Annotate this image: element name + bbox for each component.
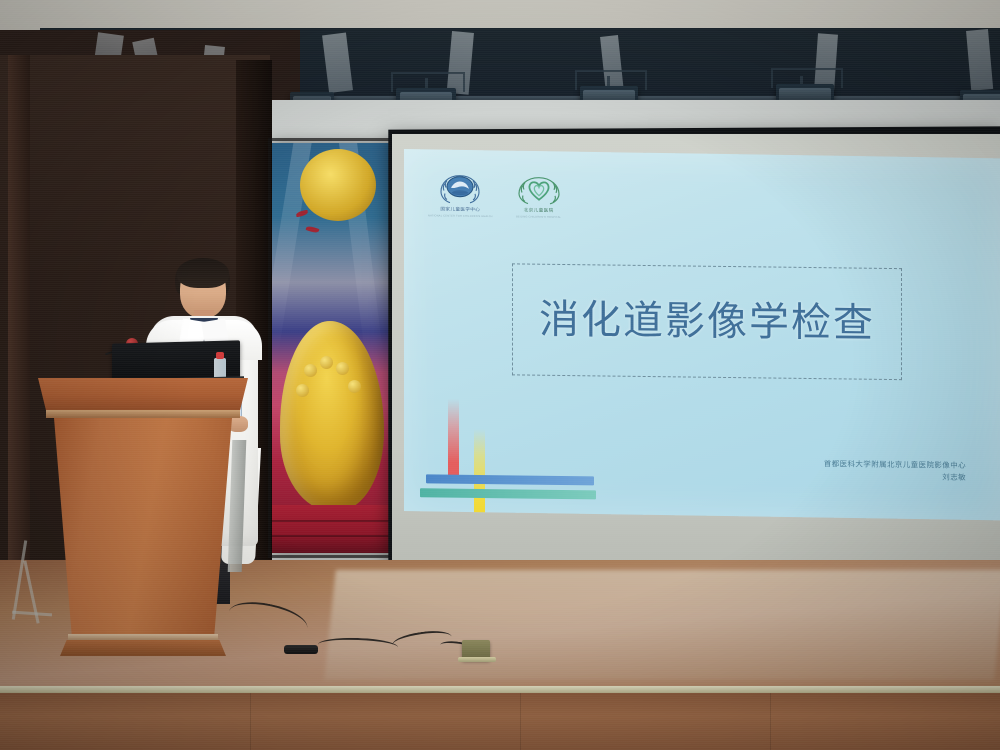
bch-heart-emblem-icon [515,173,563,206]
ncmc-logo-caption: 国家儿童医学中心 [440,206,480,212]
bch-logo-caption: 北京儿童医院 [524,208,554,214]
slide-credit-presenter-name: 刘志敏 [824,470,966,484]
slide-credit-organization: 首都医科大学附属北京儿童医院影像中心 [824,458,966,472]
red-vertical-bar [448,399,459,481]
water-bottle-cap [216,352,224,359]
ncmc-logo-subcaption: NATIONAL CENTER FOR CHILDREN'S HEALTH [428,214,493,218]
blue-horizontal-bar [426,474,594,485]
slide-logo-row: 国家儿童医学中心 NATIONAL CENTER FOR CHILDREN'S … [428,172,563,219]
fixture-yoke-icon [575,70,647,90]
podium-top-surface [38,378,248,412]
wooden-podium [38,378,248,668]
podium-base-trim [68,634,218,641]
slide-credit: 首都医科大学附属北京儿童医院影像中心 刘志敏 [824,458,966,485]
podium-steel-side-trim [228,440,247,572]
fixture-yoke-icon [771,68,843,88]
presenter-hair [177,258,229,288]
stage-apron-front [0,693,1000,750]
apron-grain-line [770,693,771,750]
podium-base-plate [60,640,226,656]
podium-lip-trim [46,410,240,418]
teal-horizontal-bar [420,488,596,499]
slide-title-dashed-box: 消化道影像学检查 [512,263,902,380]
stage-edge-trim [0,686,1000,693]
apron-grain-line [250,693,251,750]
slide-decor-bars [420,392,600,514]
beijing-childrens-hospital-logo: 北京儿童医院 BEIJING CHILDREN'S HOSPITAL [515,173,563,219]
bch-logo-subcaption: BEIJING CHILDREN'S HOSPITAL [516,215,561,219]
fixture-yoke-icon [391,72,465,92]
cable-plug [284,645,318,654]
slide-title: 消化道影像学检查 [539,300,875,344]
banner-frame [268,138,396,558]
podium-body [54,418,232,636]
ncmc-emblem-icon [438,172,482,205]
floor-power-socket-lid [458,657,496,662]
apron-grain-line [520,693,521,750]
projected-slide: 国家儿童医学中心 NATIONAL CENTER FOR CHILDREN'S … [404,149,1000,520]
presentation-photo-scene: 国家儿童医学中心 NATIONAL CENTER FOR CHILDREN'S … [0,0,1000,750]
stage-floor-light-reflection [324,570,1000,680]
national-childrens-medical-center-logo: 国家儿童医学中心 NATIONAL CENTER FOR CHILDREN'S … [428,172,493,218]
